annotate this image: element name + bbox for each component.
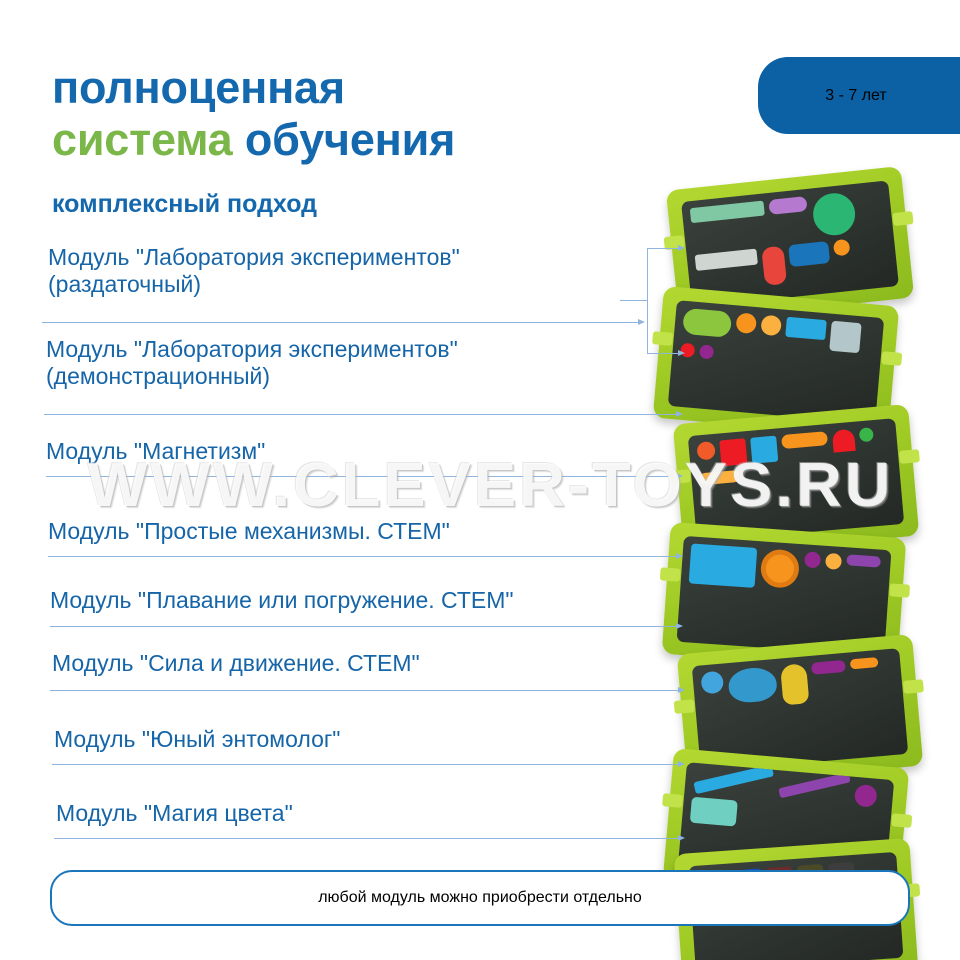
- module-label: Модуль "Лаборатория экспериментов" (демо…: [46, 336, 458, 389]
- footer-banner-label: любой модуль можно приобрести отдельно: [318, 889, 642, 907]
- tool-item: [693, 764, 774, 794]
- tool-item: [699, 470, 740, 485]
- tool-item: [859, 427, 874, 442]
- tool-item: [833, 239, 851, 257]
- title-line-1: полноценная: [52, 62, 712, 114]
- module-label: Модуль "Лаборатория экспериментов" (разд…: [48, 244, 460, 297]
- tool-item: [829, 321, 862, 354]
- page-title: полноценная система обучения: [52, 62, 712, 166]
- module-label: Модуль "Сила и движение. СТЕМ": [52, 650, 420, 677]
- tool-item: [735, 312, 757, 334]
- bracket-arrow-bottom-icon: [678, 350, 685, 356]
- tool-item: [689, 543, 758, 588]
- module-rule: [44, 414, 676, 415]
- tool-item: [696, 441, 716, 461]
- module-rule: [48, 556, 676, 557]
- tool-item: [804, 551, 821, 568]
- module-arrow-icon: [676, 473, 683, 479]
- module-arrow-icon: [678, 761, 685, 767]
- age-badge-label: 3 - 7 лет: [825, 87, 887, 105]
- module-label: Модуль "Магия цвета": [56, 800, 293, 827]
- infographic-page: полноценная система обучения комплексный…: [0, 0, 960, 960]
- tool-item: [811, 191, 857, 237]
- footer-banner: любой модуль можно приобрести отдельно: [50, 870, 910, 926]
- tool-item: [682, 308, 732, 338]
- bracket-connector: [620, 245, 686, 365]
- bracket-arm-top: [647, 248, 679, 249]
- tool-item: [699, 344, 714, 359]
- module-arrow-icon: [678, 687, 685, 693]
- title-word-green: система: [52, 114, 233, 165]
- tool-item: [778, 772, 850, 798]
- tool-item: [846, 554, 881, 567]
- tool-item: [768, 196, 807, 215]
- module-rule: [42, 322, 638, 323]
- tool-item: [700, 671, 724, 695]
- module-rule: [50, 626, 676, 627]
- bracket-arrow-top-icon: [678, 245, 685, 251]
- tool-item: [690, 797, 738, 827]
- tool-item: [781, 431, 828, 449]
- tool-item: [750, 436, 778, 464]
- tool-item: [780, 663, 809, 705]
- tool-item: [825, 553, 842, 570]
- foam-tray: [681, 180, 899, 307]
- module-label: Модуль "Магнетизм": [46, 438, 265, 465]
- tool-item: [832, 429, 856, 453]
- module-arrow-icon: [676, 411, 683, 417]
- module-rule: [50, 690, 678, 691]
- foam-tray: [688, 418, 904, 542]
- bracket-stem: [620, 300, 648, 301]
- tool-item: [719, 438, 747, 466]
- tool-item: [695, 249, 758, 271]
- title-word-blue: обучения: [233, 114, 456, 165]
- tool-item: [811, 660, 846, 675]
- tool-item: [788, 241, 830, 267]
- tool-item: [727, 666, 778, 704]
- tool-item: [690, 201, 765, 224]
- tool-item: [761, 246, 787, 286]
- tool-item: [760, 548, 801, 589]
- age-badge: 3 - 7 лет: [758, 57, 960, 134]
- module-arrow-icon: [676, 553, 683, 559]
- title-line-2: система обучения: [52, 114, 712, 166]
- module-label: Модуль "Плавание или погружение. СТЕМ": [50, 587, 514, 614]
- module-rule: [52, 764, 678, 765]
- bracket-arm-bottom: [647, 353, 679, 354]
- module-label: Модуль "Юный энтомолог": [54, 726, 340, 753]
- tool-item: [760, 315, 782, 337]
- tool-item: [785, 317, 827, 340]
- module-rule: [54, 838, 678, 839]
- product-box-stack-image: [648, 178, 960, 890]
- module-rule: [46, 476, 676, 477]
- foam-tray: [668, 300, 884, 424]
- tool-item: [850, 657, 879, 669]
- page-subtitle: комплексный подход: [52, 190, 317, 219]
- module-arrow-icon: [678, 835, 685, 841]
- tool-item: [854, 784, 878, 808]
- module-label: Модуль "Простые механизмы. СТЕМ": [48, 518, 450, 545]
- module-arrow-icon: [676, 623, 683, 629]
